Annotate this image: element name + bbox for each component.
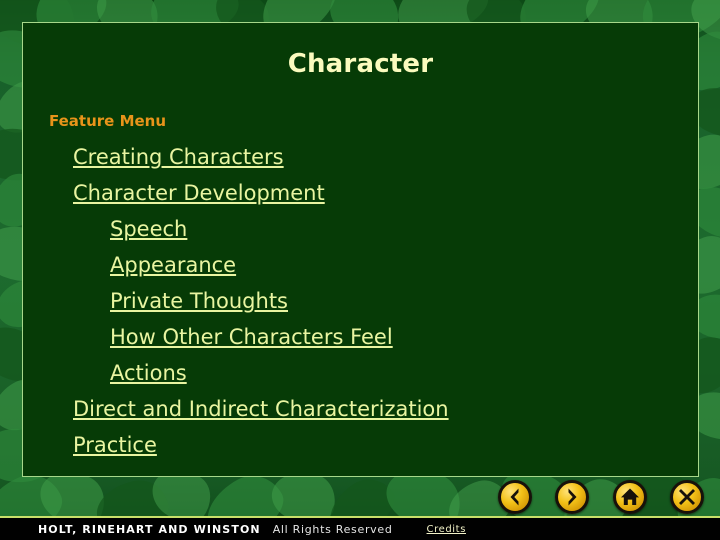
menu-link-private-thoughts[interactable]: Private Thoughts (23, 289, 288, 313)
close-x-icon[interactable] (670, 480, 704, 514)
list-item: Actions (23, 355, 698, 391)
list-item: Appearance (23, 247, 698, 283)
content-panel: Character Feature Menu Creating Characte… (22, 22, 699, 477)
rights-text: All Rights Reserved (273, 523, 393, 536)
menu-link-direct-and-indirect-characterization[interactable]: Direct and Indirect Characterization (23, 397, 449, 421)
menu-link-how-other-characters-feel[interactable]: How Other Characters Feel (23, 325, 393, 349)
list-item: Character Development (23, 175, 698, 211)
menu-link-practice[interactable]: Practice (23, 433, 157, 457)
list-item: Creating Characters (23, 139, 698, 175)
menu-link-appearance[interactable]: Appearance (23, 253, 236, 277)
credits-link[interactable]: Credits (427, 524, 466, 535)
list-item: Private Thoughts (23, 283, 698, 319)
list-item: How Other Characters Feel (23, 319, 698, 355)
chevron-left-icon[interactable] (498, 480, 532, 514)
list-item: Direct and Indirect Characterization (23, 391, 698, 427)
home-icon[interactable] (613, 480, 647, 514)
feature-menu-list: Creating Characters Character Developmen… (23, 139, 698, 463)
publisher-name: HOLT, RINEHART AND WINSTON (38, 523, 261, 536)
list-item: Speech (23, 211, 698, 247)
presentation-slide: Character Feature Menu Creating Characte… (0, 0, 720, 540)
page-title: Character (23, 49, 698, 79)
chevron-right-icon[interactable] (555, 480, 589, 514)
menu-link-actions[interactable]: Actions (23, 361, 187, 385)
list-item: Practice (23, 427, 698, 463)
menu-link-character-development[interactable]: Character Development (23, 181, 325, 205)
footer-bar: HOLT, RINEHART AND WINSTON All Rights Re… (0, 518, 720, 540)
feature-menu-heading: Feature Menu (49, 112, 166, 130)
menu-link-speech[interactable]: Speech (23, 217, 187, 241)
menu-link-creating-characters[interactable]: Creating Characters (23, 145, 284, 169)
